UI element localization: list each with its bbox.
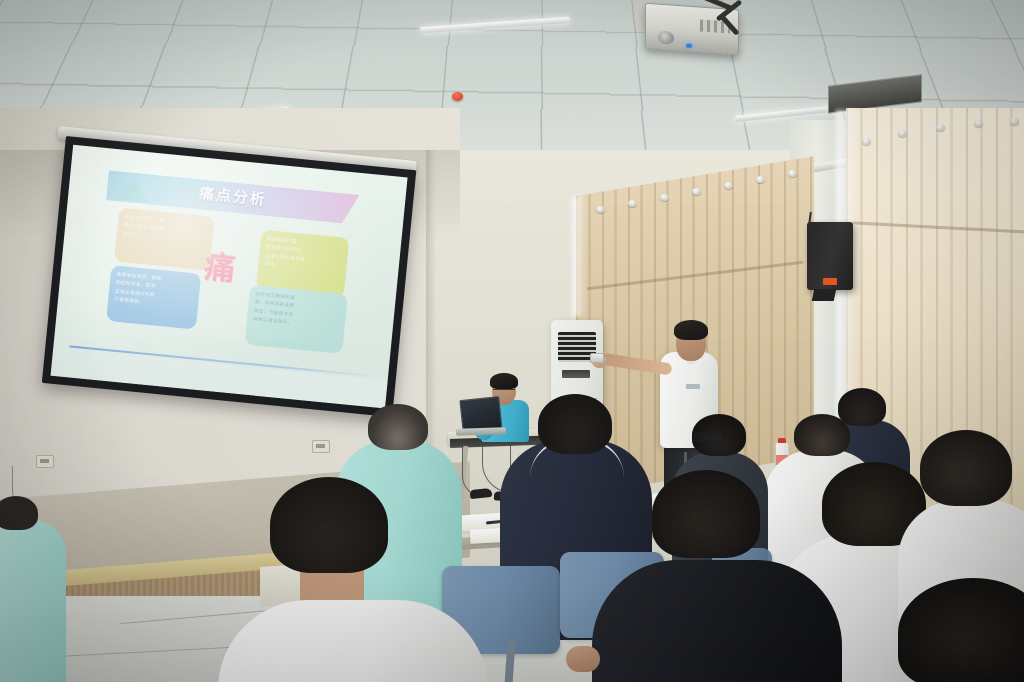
- speaker-brand-logo: [823, 278, 837, 285]
- curtain-grommet: [724, 182, 733, 189]
- speaker-mount: [812, 289, 837, 301]
- projector-lens: [658, 31, 674, 45]
- ac-control-panel: [562, 370, 590, 378]
- attendee-body: [0, 520, 66, 682]
- bottle-cap: [778, 438, 786, 443]
- curtain-grommet: [596, 206, 605, 213]
- attendee-head: [652, 470, 760, 558]
- shirt-logo: [686, 384, 700, 389]
- curtain-grommet: [974, 120, 983, 127]
- operator-hair: [490, 373, 518, 389]
- curtain-grommet: [898, 130, 907, 137]
- curtain-grommet: [862, 138, 871, 145]
- attendee-head: [368, 404, 428, 450]
- attendee-body: [592, 560, 842, 682]
- power-outlet-icon: [312, 440, 330, 453]
- curtain-grommet: [936, 124, 945, 131]
- wall-speaker-icon: [807, 222, 853, 290]
- attendee-hand: [566, 646, 600, 672]
- curtain-grommet: [628, 200, 637, 207]
- screen-surface: 痛点分析 设备分布零散，运 维人工巡检成本高 居不下。 数据孤岛严重， 各系统之…: [51, 145, 408, 409]
- glasses-icon: [694, 432, 724, 442]
- remote-control-icon: [590, 353, 604, 363]
- curtain-grommet: [660, 194, 669, 201]
- attendee-head: [838, 388, 886, 426]
- attendee-head: [920, 430, 1012, 506]
- screen-glare: [51, 145, 408, 409]
- fire-sprinkler-icon: [452, 92, 463, 101]
- curtain-grommet: [692, 188, 701, 195]
- glasses-icon: [493, 389, 515, 395]
- attendee-head: [270, 477, 388, 573]
- curtain-grommet: [1010, 118, 1019, 125]
- projection-screen: 痛点分析 设备分布零散，运 维人工巡检成本高 居不下。 数据孤岛严重， 各系统之…: [42, 136, 417, 417]
- window-light: [572, 195, 586, 317]
- curtain-grommet: [756, 176, 765, 183]
- attendee-head: [538, 394, 612, 454]
- attendee-head: [794, 414, 850, 456]
- attendee-head: [0, 496, 38, 530]
- curtain-grommet: [788, 170, 797, 177]
- presenter-hair: [674, 320, 708, 340]
- projector-led: [686, 44, 692, 48]
- classroom-scene: 痛点分析 设备分布零散，运 维人工巡检成本高 居不下。 数据孤岛严重， 各系统之…: [0, 0, 1024, 682]
